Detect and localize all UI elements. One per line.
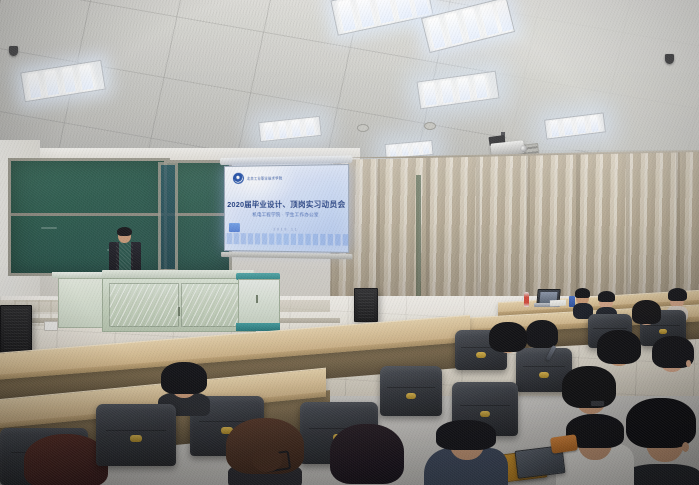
- slide-decoration-block: [229, 223, 240, 232]
- lecture-hall-photo: 北京工业职业技术学院 2020届毕业设计、顶岗实习动员会 机电工程学院 · 学生…: [0, 0, 699, 485]
- hair-bun: [252, 448, 282, 472]
- hair: [632, 300, 661, 324]
- water-bottle: [524, 292, 529, 307]
- slide-date: 2 0 1 9 . 1 1: [225, 227, 348, 232]
- seat-emblem: [406, 393, 416, 399]
- lectern-door-left: [109, 283, 179, 327]
- curtain-window-gap: [416, 175, 421, 310]
- lectern-front: [102, 278, 256, 332]
- projection-screen: 北京工业职业技术学院 2020届毕业设计、顶岗实习动员会 机电工程学院 · 学生…: [224, 164, 349, 253]
- hair: [161, 362, 207, 394]
- hair: [598, 291, 615, 302]
- hair: [597, 330, 641, 364]
- eyeglasses: [590, 400, 605, 407]
- equipment-cabinet-body: [238, 279, 280, 327]
- slide-subtitle: 机电工程学院 · 学生工作办公室: [225, 212, 348, 218]
- equipment-cabinet: [236, 273, 280, 331]
- seat-crease: [387, 387, 434, 388]
- equipment-cabinet-handle: [256, 295, 258, 303]
- audience-member: [226, 418, 304, 485]
- seat-emblem: [539, 372, 549, 378]
- hair: [575, 288, 590, 298]
- auditorium-seat[interactable]: [380, 366, 442, 416]
- seat-crease: [106, 430, 167, 431]
- hair: [489, 322, 527, 352]
- seat-emblem: [480, 411, 490, 417]
- chalkboard-left: [8, 158, 170, 276]
- slide-university-name: 北京工业职业技术学院: [247, 175, 283, 180]
- hair: [436, 420, 496, 450]
- audience-member: [652, 336, 698, 388]
- papers-on-desk: [550, 300, 566, 307]
- speaker-grille: [358, 292, 374, 318]
- auditorium-seat[interactable]: [96, 404, 176, 466]
- seat-emblem: [130, 435, 142, 442]
- slide-logo: 北京工业职业技术学院: [233, 172, 283, 184]
- ear: [682, 442, 689, 452]
- ceiling-sensor: [357, 124, 369, 132]
- lectern-handle: [178, 307, 180, 316]
- audience-member: [626, 398, 699, 485]
- hair: [626, 398, 696, 448]
- presenter-shirt: [116, 242, 133, 272]
- projector-lens: [520, 145, 527, 152]
- hair: [330, 424, 404, 484]
- audience-member: [488, 322, 530, 368]
- wall-outlet: [44, 321, 58, 331]
- screen-surface: 北京工业职业技术学院 2020届毕业设计、顶岗实习动员会 机电工程学院 · 学生…: [224, 164, 349, 253]
- seat-back: [380, 366, 442, 416]
- hair: [526, 320, 558, 348]
- smoke-detector: [424, 122, 436, 130]
- torso: [626, 464, 699, 485]
- hair: [668, 288, 687, 301]
- audience-member: [573, 287, 593, 317]
- chalk-mark: [41, 227, 57, 229]
- loudspeaker-center: [354, 288, 378, 322]
- slide-title: 2020届毕业设计、顶岗实习动员会: [225, 200, 348, 210]
- chalkboard-right-panel: [158, 162, 178, 272]
- seat-emblem: [476, 352, 486, 358]
- chalkboard-seam: [11, 213, 167, 216]
- seat-crease: [460, 405, 510, 406]
- slide-ribbon-pattern: [225, 233, 348, 246]
- university-emblem-icon: [233, 173, 244, 184]
- sprinkler-head-right: [665, 54, 674, 64]
- slide-footer-ribbon: [225, 233, 348, 246]
- audience-member: [424, 420, 508, 485]
- lectern-side-desk: [52, 272, 108, 328]
- audience-member: [330, 424, 404, 485]
- sprinkler-head-left: [9, 46, 18, 56]
- presenter-hair: [117, 227, 132, 236]
- lectern-side-desk-body: [58, 278, 104, 328]
- lectern-cabinet: [102, 270, 254, 330]
- ear: [686, 360, 691, 367]
